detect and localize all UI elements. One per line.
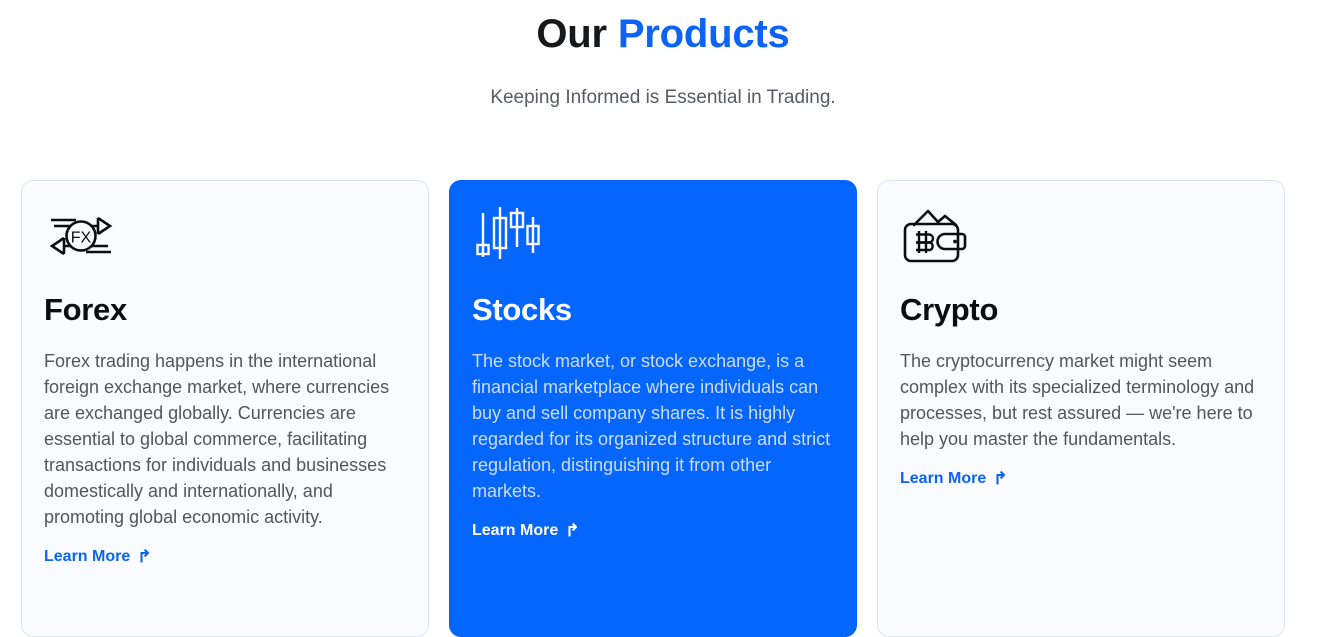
- product-cards: FX Forex Forex trading happens in the in…: [21, 180, 1305, 637]
- forex-exchange-icon: FX: [46, 205, 406, 267]
- page-title-accent: Products: [618, 12, 790, 56]
- product-card-stocks[interactable]: Stocks The stock market, or stock exchan…: [449, 180, 857, 637]
- card-body: The cryptocurrency market might seem com…: [900, 328, 1262, 452]
- candlestick-chart-icon: [474, 205, 834, 267]
- page-title-plain: Our: [536, 12, 607, 56]
- section-header: Our Products Keeping Informed is Essenti…: [0, 0, 1326, 112]
- card-body: The stock market, or stock exchange, is …: [472, 328, 834, 504]
- learn-more-link-crypto[interactable]: Learn More ↱: [900, 470, 1008, 488]
- svg-text:FX: FX: [71, 230, 92, 247]
- learn-more-label: Learn More: [472, 522, 558, 540]
- crypto-wallet-icon: [902, 205, 1262, 267]
- product-card-forex[interactable]: FX Forex Forex trading happens in the in…: [21, 180, 429, 637]
- card-title: Crypto: [900, 267, 1262, 328]
- product-card-crypto[interactable]: Crypto The cryptocurrency market might s…: [877, 180, 1285, 637]
- learn-more-label: Learn More: [44, 548, 130, 566]
- card-title: Forex: [44, 267, 406, 328]
- section-subtitle: Keeping Informed is Essential in Trading…: [0, 57, 1326, 112]
- card-title: Stocks: [472, 267, 834, 328]
- learn-more-label: Learn More: [900, 470, 986, 488]
- arrow-up-right-icon: ↱: [993, 470, 1007, 487]
- products-section: Our Products Keeping Informed is Essenti…: [0, 0, 1326, 637]
- page-title: Our Products: [0, 11, 1326, 57]
- card-body: Forex trading happens in the internation…: [44, 328, 406, 530]
- arrow-up-right-icon: ↱: [565, 522, 579, 539]
- learn-more-link-stocks[interactable]: Learn More ↱: [472, 522, 580, 540]
- learn-more-link-forex[interactable]: Learn More ↱: [44, 548, 152, 566]
- arrow-up-right-icon: ↱: [137, 548, 151, 565]
